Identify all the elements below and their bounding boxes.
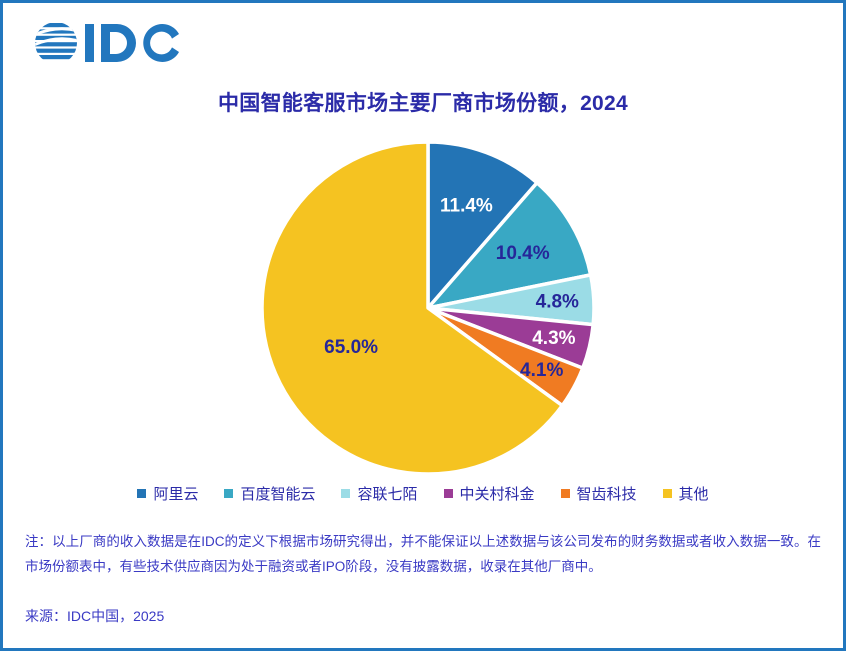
pie-slice-label: 4.1%: [520, 360, 563, 381]
pie-slice-label: 11.4%: [440, 195, 493, 216]
source-text: 来源：IDC中国，2025: [25, 606, 164, 626]
legend-item-label: 容联七陌: [357, 483, 417, 504]
legend-item[interactable]: 其他: [663, 483, 709, 504]
legend-item[interactable]: 智齿科技: [561, 483, 637, 504]
pie-slice-label: 4.3%: [532, 328, 575, 349]
chart-legend: 阿里云百度智能云容联七陌中关村科金智齿科技其他: [3, 483, 843, 504]
legend-item-label: 阿里云: [153, 483, 198, 504]
legend-swatch-icon: [341, 489, 350, 498]
pie-slice-label: 4.8%: [536, 292, 579, 313]
legend-item-label: 百度智能云: [240, 483, 315, 504]
legend-item-label: 中关村科金: [460, 483, 535, 504]
pie-chart-svg: 11.4%10.4%4.8%4.3%4.1%65.0%: [236, 136, 626, 481]
legend-item[interactable]: 中关村科金: [444, 483, 535, 504]
legend-swatch-icon: [663, 489, 672, 498]
legend-item-label: 智齿科技: [577, 483, 637, 504]
legend-item[interactable]: 百度智能云: [224, 483, 315, 504]
pie-chart: 11.4%10.4%4.8%4.3%4.1%65.0%: [236, 136, 626, 481]
legend-swatch-icon: [137, 489, 146, 498]
legend-swatch-icon: [561, 489, 570, 498]
legend-item-label: 其他: [679, 483, 709, 504]
legend-swatch-icon: [224, 489, 233, 498]
idc-globe-icon: [33, 19, 183, 67]
pie-slice-label: 65.0%: [324, 337, 378, 358]
legend-item[interactable]: 阿里云: [137, 483, 198, 504]
pie-slice-label: 10.4%: [496, 243, 550, 264]
idc-logo: [33, 17, 233, 69]
legend-swatch-icon: [444, 489, 453, 498]
legend-item[interactable]: 容联七陌: [341, 483, 417, 504]
page-title: 中国智能客服市场主要厂商市场份额，2024: [3, 87, 843, 117]
footnote-text: 注：以上厂商的收入数据是在IDC的定义下根据市场研究得出，并不能保证以上述数据与…: [25, 529, 821, 579]
chart-page: 中国智能客服市场主要厂商市场份额，2024 11.4%10.4%4.8%4.3%…: [0, 0, 846, 651]
